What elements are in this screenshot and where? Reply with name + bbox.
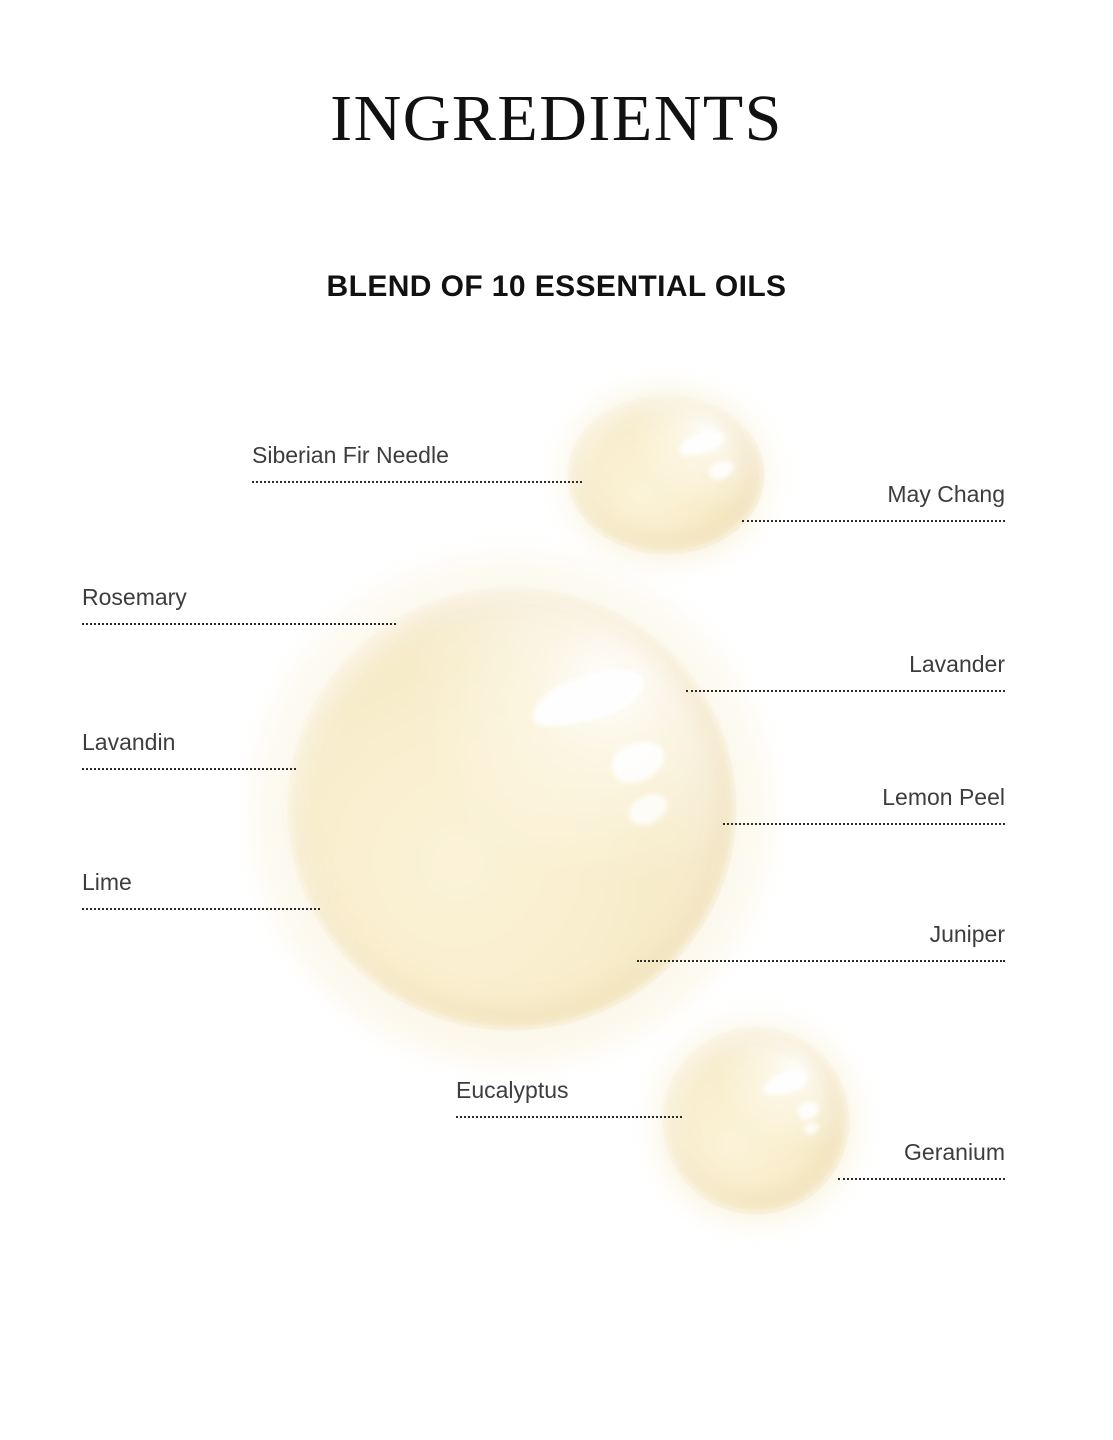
leader-line — [456, 1116, 682, 1118]
callout-label: Siberian Fir Needle — [252, 444, 582, 467]
callout-label: May Chang — [742, 483, 1005, 506]
callout-may-chang: May Chang — [742, 483, 1005, 522]
ingredient-callout-group: Siberian Fir Needle Rosemary Lavandin Li… — [0, 0, 1113, 1440]
callout-lavander: Lavander — [686, 653, 1005, 692]
callout-geranium: Geranium — [838, 1141, 1005, 1180]
leader-line — [723, 823, 1005, 825]
callout-label: Lime — [82, 871, 320, 894]
callout-lime: Lime — [82, 871, 320, 910]
callout-lemon-peel: Lemon Peel — [723, 786, 1005, 825]
callout-label: Lavandin — [82, 731, 296, 754]
callout-label: Rosemary — [82, 586, 396, 609]
leader-line — [82, 768, 296, 770]
leader-line — [252, 481, 582, 483]
callout-label: Eucalyptus — [456, 1079, 682, 1102]
callout-label: Lavander — [686, 653, 1005, 676]
leader-line — [637, 960, 1005, 962]
callout-juniper: Juniper — [637, 923, 1005, 962]
callout-rosemary: Rosemary — [82, 586, 396, 625]
callout-label: Juniper — [637, 923, 1005, 946]
leader-line — [742, 520, 1005, 522]
callout-eucalyptus: Eucalyptus — [456, 1079, 682, 1118]
callout-lavandin: Lavandin — [82, 731, 296, 770]
leader-line — [686, 690, 1005, 692]
callout-label: Lemon Peel — [723, 786, 1005, 809]
callout-siberian-fir-needle: Siberian Fir Needle — [252, 444, 582, 483]
leader-line — [838, 1178, 1005, 1180]
leader-line — [82, 908, 320, 910]
callout-label: Geranium — [838, 1141, 1005, 1164]
leader-line — [82, 623, 396, 625]
